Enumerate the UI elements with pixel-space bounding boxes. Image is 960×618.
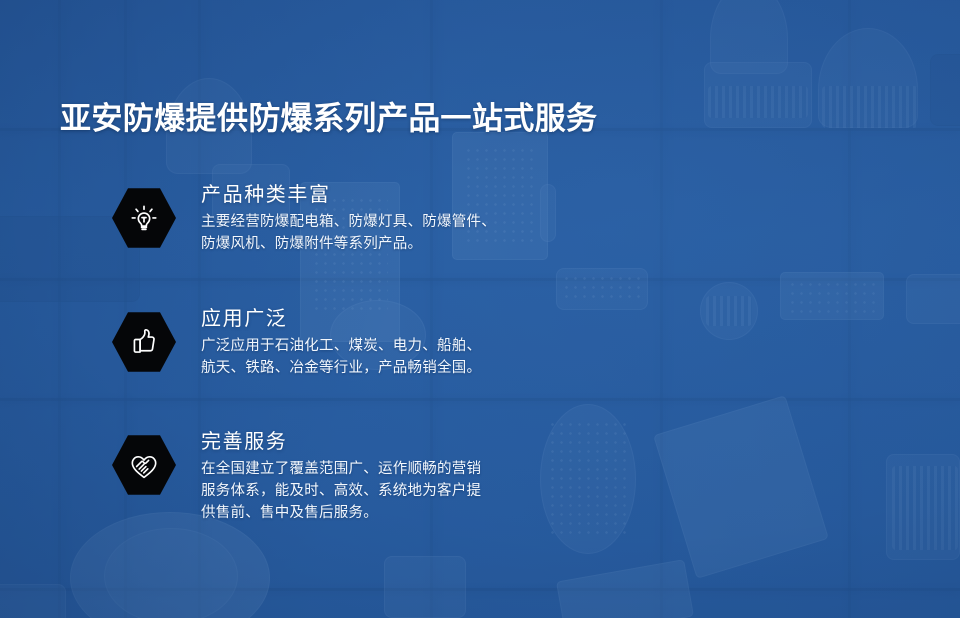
- feature-icon-badge: [112, 187, 176, 249]
- feature-item-wide-application: 应用广泛 广泛应用于石油化工、煤炭、电力、船舶、 航天、铁路、冶金等行业，产品畅…: [112, 307, 481, 379]
- headline-prefix: 亚安防爆提供: [60, 101, 248, 136]
- feature-title: 产品种类丰富: [201, 183, 496, 208]
- feature-icon-badge: [112, 434, 176, 496]
- headline: 亚安防爆提供防爆系列产品一站式服务: [60, 99, 597, 138]
- headline-emphasis: 防爆系列产品: [248, 100, 440, 136]
- feature-title: 完善服务: [201, 430, 481, 455]
- feature-title: 应用广泛: [201, 307, 481, 332]
- feature-description: 广泛应用于石油化工、煤炭、电力、船舶、 航天、铁路、冶金等行业，产品畅销全国。: [201, 335, 481, 379]
- feature-text: 应用广泛 广泛应用于石油化工、煤炭、电力、船舶、 航天、铁路、冶金等行业，产品畅…: [201, 307, 481, 379]
- lightbulb-icon: [127, 201, 161, 235]
- banner-content: 亚安防爆提供防爆系列产品一站式服务 产品种类丰富 主要经营防爆配电箱、防爆灯具、…: [0, 0, 960, 618]
- headline-suffix: 一站式服务: [440, 101, 597, 136]
- feature-text: 完善服务 在全国建立了覆盖范围广、运作顺畅的营销 服务体系，能及时、高效、系统地…: [201, 430, 481, 524]
- promotional-banner: 亚安防爆提供防爆系列产品一站式服务 产品种类丰富 主要经营防爆配电箱、防爆灯具、…: [0, 0, 960, 618]
- feature-item-complete-service: 完善服务 在全国建立了覆盖范围广、运作顺畅的营销 服务体系，能及时、高效、系统地…: [112, 430, 481, 524]
- thumbs-up-icon: [127, 325, 161, 359]
- handshake-heart-icon: [127, 448, 161, 482]
- feature-description: 主要经营防爆配电箱、防爆灯具、防爆管件、 防爆风机、防爆附件等系列产品。: [201, 211, 496, 255]
- feature-icon-badge: [112, 311, 176, 373]
- feature-item-product-variety: 产品种类丰富 主要经营防爆配电箱、防爆灯具、防爆管件、 防爆风机、防爆附件等系列…: [112, 183, 496, 255]
- feature-description: 在全国建立了覆盖范围广、运作顺畅的营销 服务体系，能及时、高效、系统地为客户提 …: [201, 458, 481, 524]
- feature-text: 产品种类丰富 主要经营防爆配电箱、防爆灯具、防爆管件、 防爆风机、防爆附件等系列…: [201, 183, 496, 255]
